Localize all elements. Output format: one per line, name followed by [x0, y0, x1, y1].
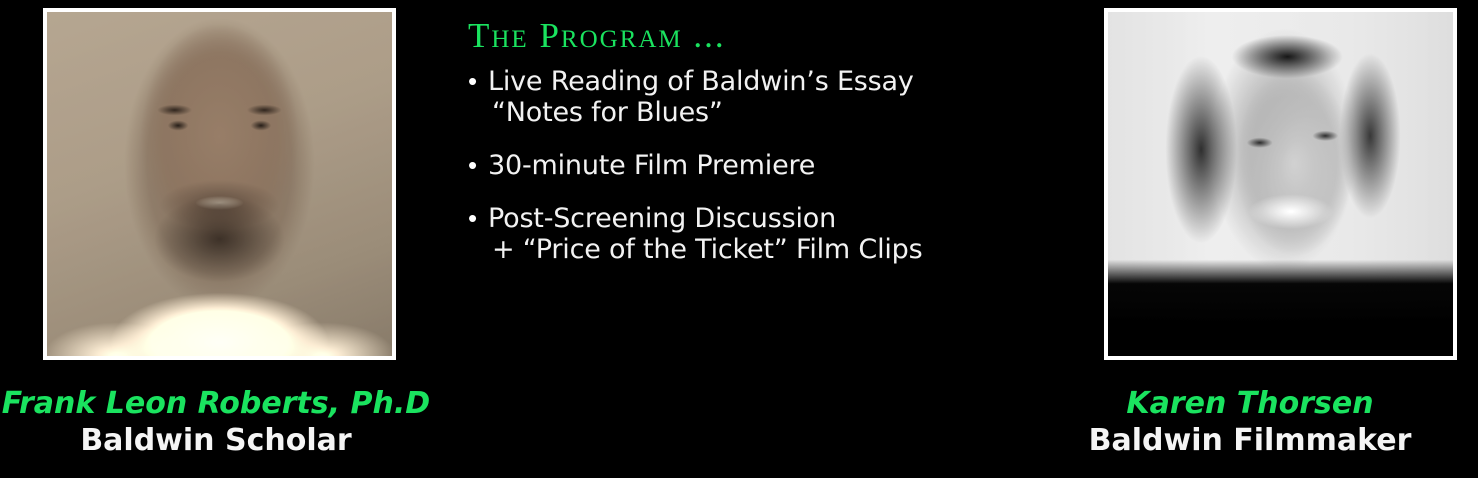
left-person-role: Baldwin Scholar: [0, 422, 446, 460]
left-person-portrait-image: [47, 12, 392, 356]
left-person-name: Frank Leon Roberts, Ph.D: [0, 386, 446, 422]
right-person-photo-inner: [1108, 12, 1453, 356]
slide-canvas: The Program ... • Live Reading of Baldwi…: [0, 0, 1478, 478]
right-person-portrait-image: [1108, 12, 1453, 356]
bullet-line-2: “Notes for Blues”: [488, 97, 914, 128]
right-person-caption: Karen Thorsen Baldwin Filmmaker: [1020, 386, 1478, 460]
right-person-name: Karen Thorsen: [1020, 386, 1478, 422]
program-bullet-item: • Post-Screening Discussion + “Price of …: [460, 203, 1080, 265]
program-title: The Program ...: [468, 16, 1080, 56]
bullet-dot-icon: •: [460, 150, 488, 180]
program-bullet-text: Post-Screening Discussion + “Price of th…: [488, 203, 922, 265]
program-bullet-item: • Live Reading of Baldwin’s Essay “Notes…: [460, 66, 1080, 128]
program-bullet-text: 30-minute Film Premiere: [488, 150, 815, 181]
bullet-line-1: Live Reading of Baldwin’s Essay: [488, 66, 914, 97]
program-block: The Program ... • Live Reading of Baldwi…: [460, 8, 1080, 287]
program-bullet-item: • 30-minute Film Premiere: [460, 150, 1080, 181]
bullet-line-1: Post-Screening Discussion: [488, 203, 836, 234]
left-person-photo-inner: [47, 12, 392, 356]
left-person-caption: Frank Leon Roberts, Ph.D Baldwin Scholar: [0, 386, 446, 460]
bullet-line-2: + “Price of the Ticket” Film Clips: [488, 234, 922, 265]
right-person-photo-frame: [1104, 8, 1457, 360]
program-bullet-text: Live Reading of Baldwin’s Essay “Notes f…: [488, 66, 914, 128]
bullet-dot-icon: •: [460, 66, 488, 96]
right-person-role: Baldwin Filmmaker: [1020, 422, 1478, 460]
bullet-dot-icon: •: [460, 203, 488, 233]
left-person-photo-frame: [43, 8, 396, 360]
bullet-line-1: 30-minute Film Premiere: [488, 150, 815, 181]
